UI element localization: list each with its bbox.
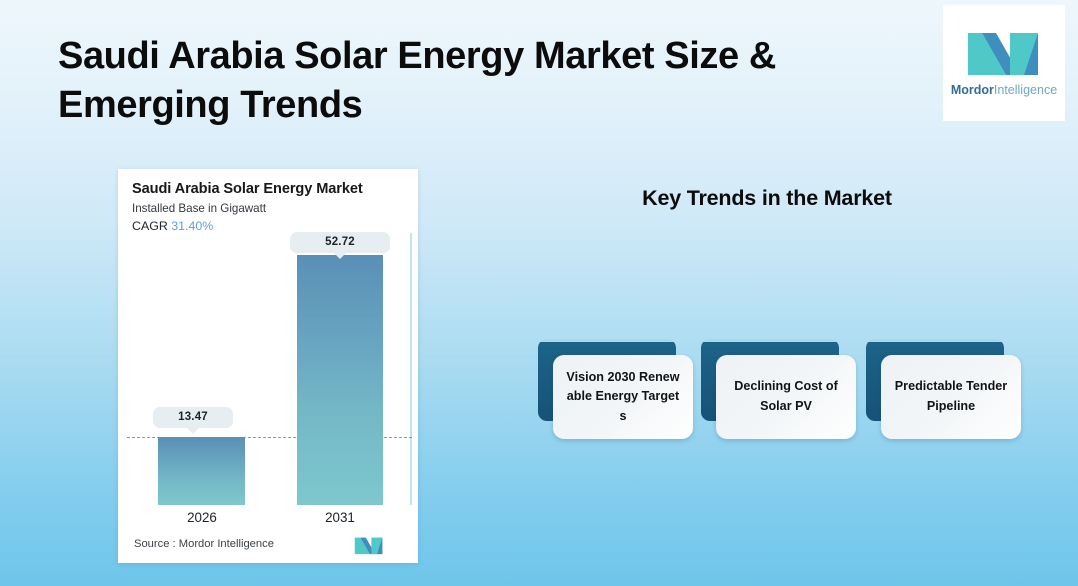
trend-card-1-label: Vision 2030 Renewable Energy Targets [564, 368, 682, 427]
chart-source: Source : Mordor Intelligence [134, 538, 274, 550]
chart-plot-area: 13.47 52.72 [127, 233, 412, 505]
chart-source-value: Mordor Intelligence [179, 538, 274, 550]
page-title: Saudi Arabia Solar Energy Market Size & … [58, 32, 888, 129]
chart-cagr: CAGR 31.40% [132, 219, 418, 233]
brand-logo-badge: MordorIntelligence [943, 5, 1065, 121]
trend-card-2-label: Declining Cost of Solar PV [727, 377, 845, 416]
trend-card-3-front[interactable]: Predictable Tender Pipeline [881, 355, 1021, 439]
x-axis-label-2031: 2031 [296, 510, 384, 525]
chart-title: Saudi Arabia Solar Energy Market [132, 181, 418, 197]
bar-2026[interactable] [158, 437, 245, 505]
mordor-intelligence-mark-icon [966, 29, 1042, 77]
chart-header: Saudi Arabia Solar Energy Market Install… [118, 169, 418, 233]
cagr-label: CAGR [132, 219, 168, 233]
x-axis-label-2026: 2026 [158, 510, 246, 525]
trend-card-2-front[interactable]: Declining Cost of Solar PV [716, 355, 856, 439]
chart-axis-line [410, 233, 412, 505]
bar-2031[interactable] [297, 255, 383, 505]
bar-value-label-2031: 52.72 [290, 232, 390, 253]
chart-subtitle: Installed Base in Gigawatt [132, 202, 418, 215]
bar-value-label-2026: 13.47 [153, 407, 233, 428]
trend-card-3-label: Predictable Tender Pipeline [892, 377, 1010, 416]
brand-wordmark-light: Intelligence [994, 83, 1057, 97]
trend-card-1-front[interactable]: Vision 2030 Renewable Energy Targets [553, 355, 693, 439]
brand-wordmark-bold: Mordor [951, 83, 994, 97]
key-trends-heading: Key Trends in the Market [613, 186, 921, 211]
cagr-value: 31.40% [171, 219, 213, 233]
chart-source-label: Source : [134, 538, 176, 550]
source-mordor-intelligence-mark-icon [354, 536, 384, 555]
brand-wordmark: MordorIntelligence [951, 83, 1057, 97]
